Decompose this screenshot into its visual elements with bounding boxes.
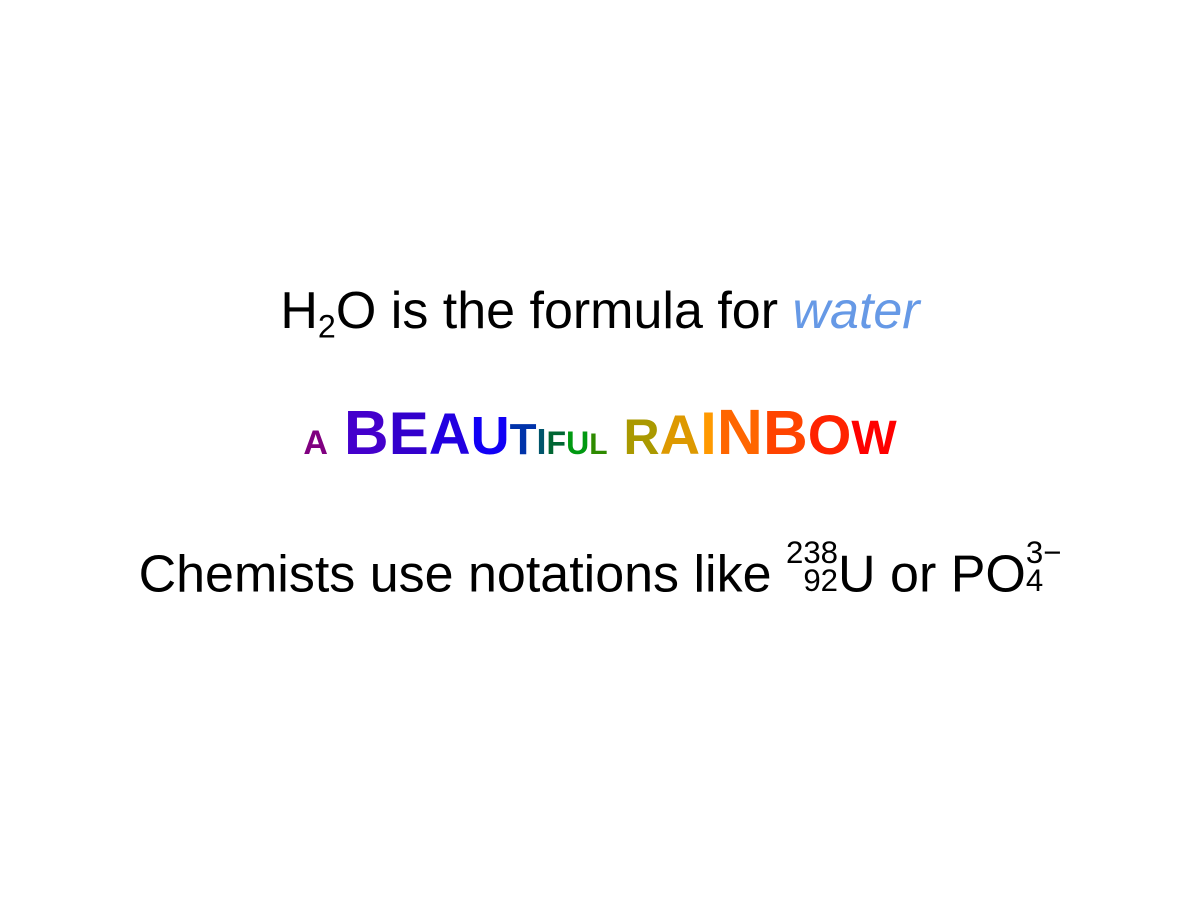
chemical-formula: H2O (280, 282, 376, 340)
rainbow-letter: A (303, 430, 328, 457)
mass-number: 238 (786, 537, 838, 566)
notation-conjunction: or (876, 545, 951, 603)
formula-line: H2O is the formula for water (0, 285, 1200, 343)
ion-charge: 3− (1026, 537, 1062, 566)
rainbow-wordart: ABEAUTIFULRAINBOW (0, 408, 1200, 458)
rainbow-letter: W (851, 420, 896, 457)
rainbow-letter: U (471, 415, 510, 457)
slide-canvas: H2O is the formula for water ABEAUTIFULR… (0, 0, 1200, 900)
element-hydrogen: H (280, 282, 318, 340)
rainbow-letter: I (537, 428, 547, 456)
rainbow-letter: L (589, 433, 607, 456)
rainbow-letter: B (763, 410, 808, 458)
rainbow-letter: R (624, 418, 660, 457)
isotope-symbol: U (838, 545, 876, 603)
rainbow-letter: B (344, 410, 389, 458)
rainbow-letter: A (429, 412, 471, 457)
rainbow-letter: O (808, 413, 852, 457)
rainbow-letter: I (700, 411, 717, 458)
formula-middle-text: is the formula for (376, 282, 792, 340)
subscript-2: 2 (318, 309, 336, 345)
rainbow-letter: F (547, 431, 567, 456)
rainbow-letter: T (510, 423, 537, 457)
rainbow-letter: U (566, 431, 589, 456)
rainbow-letter: N (717, 408, 763, 458)
notation-line: Chemists use notations like 23892U or PO… (0, 538, 1200, 600)
element-oxygen: O (336, 282, 376, 340)
isotope-prescript: 23892 (786, 537, 838, 593)
emphasis-word-water: water (792, 282, 919, 340)
notation-lead-text: Chemists use notations like (139, 545, 786, 603)
rainbow-letter: A (660, 413, 700, 457)
ion-symbol: PO (951, 545, 1026, 603)
ion-postscript: 3−4 (1026, 537, 1062, 593)
rainbow-letter: E (389, 411, 429, 458)
